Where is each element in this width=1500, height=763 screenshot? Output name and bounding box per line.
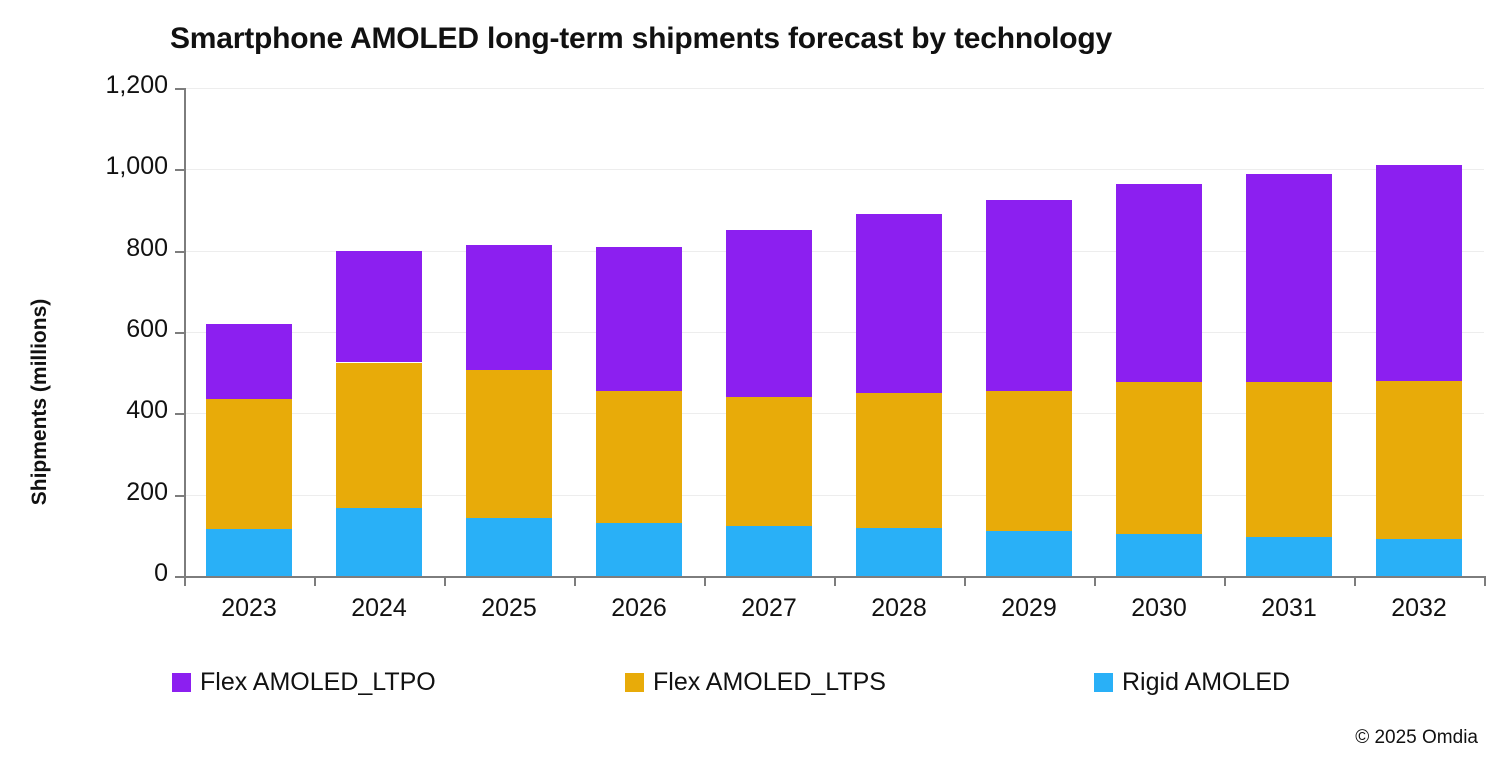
bar-segment[interactable] bbox=[726, 230, 812, 398]
bar-segment[interactable] bbox=[596, 391, 682, 523]
bar-segment[interactable] bbox=[336, 508, 422, 576]
x-axis-tick-label: 2027 bbox=[704, 594, 834, 623]
legend-label: Rigid AMOLED bbox=[1122, 668, 1290, 697]
bar-segment[interactable] bbox=[856, 528, 942, 576]
x-axis-tick-label: 2030 bbox=[1094, 594, 1224, 623]
bar-segment[interactable] bbox=[1376, 165, 1462, 381]
y-axis-tick bbox=[175, 88, 185, 90]
bar-segment[interactable] bbox=[206, 529, 292, 576]
bar-segment[interactable] bbox=[1246, 174, 1332, 382]
bar-column-2023[interactable] bbox=[206, 88, 292, 576]
y-axis-tick-label: 0 bbox=[48, 559, 168, 588]
y-axis-tick-label: 1,000 bbox=[48, 152, 168, 181]
x-axis-tick-label: 2024 bbox=[314, 594, 444, 623]
legend-swatch-icon bbox=[625, 673, 644, 692]
bar-segment[interactable] bbox=[1116, 382, 1202, 534]
x-axis-tick-label: 2028 bbox=[834, 594, 964, 623]
legend-label: Flex AMOLED_LTPS bbox=[653, 668, 886, 697]
bar-segment[interactable] bbox=[1376, 539, 1462, 576]
y-axis-tick bbox=[175, 413, 185, 415]
bar-segment[interactable] bbox=[726, 526, 812, 576]
bar-segment[interactable] bbox=[1376, 381, 1462, 539]
bar-segment[interactable] bbox=[1246, 382, 1332, 537]
bar-segment[interactable] bbox=[856, 393, 942, 528]
bar-column-2031[interactable] bbox=[1246, 88, 1332, 576]
chart-root: Smartphone AMOLED long-term shipments fo… bbox=[0, 0, 1500, 763]
bar-column-2029[interactable] bbox=[986, 88, 1072, 576]
bar-segment[interactable] bbox=[206, 399, 292, 529]
bar-segment[interactable] bbox=[986, 531, 1072, 576]
bar-column-2026[interactable] bbox=[596, 88, 682, 576]
plot-area bbox=[184, 88, 1484, 576]
bar-segment[interactable] bbox=[1116, 534, 1202, 576]
bar-segment[interactable] bbox=[596, 523, 682, 576]
bar-segment[interactable] bbox=[986, 391, 1072, 532]
x-axis-tick-label: 2031 bbox=[1224, 594, 1354, 623]
chart-title: Smartphone AMOLED long-term shipments fo… bbox=[170, 22, 1112, 56]
copyright-notice: © 2025 Omdia bbox=[1355, 727, 1478, 749]
x-axis-tick bbox=[834, 576, 836, 586]
y-axis-tick-label: 400 bbox=[48, 396, 168, 425]
y-axis-tick-label: 800 bbox=[48, 234, 168, 263]
legend-swatch-icon bbox=[1094, 673, 1113, 692]
x-axis-tick bbox=[1354, 576, 1356, 586]
legend-item[interactable]: Rigid AMOLED bbox=[1094, 668, 1290, 697]
x-axis-tick bbox=[1094, 576, 1096, 586]
y-axis-tick-label: 600 bbox=[48, 315, 168, 344]
bar-segment[interactable] bbox=[466, 518, 552, 576]
x-axis-tick-label: 2029 bbox=[964, 594, 1094, 623]
x-axis-tick bbox=[444, 576, 446, 586]
bar-column-2025[interactable] bbox=[466, 88, 552, 576]
bar-column-2032[interactable] bbox=[1376, 88, 1462, 576]
x-axis-tick-label: 2032 bbox=[1354, 594, 1484, 623]
x-axis-tick bbox=[964, 576, 966, 586]
bar-segment[interactable] bbox=[206, 324, 292, 399]
bar-column-2024[interactable] bbox=[336, 88, 422, 576]
x-axis-tick bbox=[314, 576, 316, 586]
y-axis-tick bbox=[175, 332, 185, 334]
x-axis-tick-label: 2023 bbox=[184, 594, 314, 623]
legend-item[interactable]: Flex AMOLED_LTPS bbox=[625, 668, 886, 697]
legend-label: Flex AMOLED_LTPO bbox=[200, 668, 436, 697]
bar-column-2030[interactable] bbox=[1116, 88, 1202, 576]
bar-segment[interactable] bbox=[726, 397, 812, 525]
chart-legend: Flex AMOLED_LTPOFlex AMOLED_LTPSRigid AM… bbox=[0, 668, 1500, 708]
bar-segment[interactable] bbox=[596, 247, 682, 392]
bar-column-2027[interactable] bbox=[726, 88, 812, 576]
x-axis-tick bbox=[1224, 576, 1226, 586]
x-axis-tick bbox=[184, 576, 186, 586]
bar-segment[interactable] bbox=[336, 251, 422, 363]
x-axis-tick-label: 2026 bbox=[574, 594, 704, 623]
bar-segment[interactable] bbox=[466, 370, 552, 518]
x-axis-tick bbox=[704, 576, 706, 586]
bar-segment[interactable] bbox=[986, 200, 1072, 391]
x-axis-tick-label: 2025 bbox=[444, 594, 574, 623]
bar-segment[interactable] bbox=[856, 214, 942, 393]
bar-segment[interactable] bbox=[466, 245, 552, 370]
legend-item[interactable]: Flex AMOLED_LTPO bbox=[172, 668, 436, 697]
y-axis-tick bbox=[175, 495, 185, 497]
y-axis-tick bbox=[175, 169, 185, 171]
y-axis-tick-label: 200 bbox=[48, 478, 168, 507]
bar-column-2028[interactable] bbox=[856, 88, 942, 576]
bar-segment[interactable] bbox=[1246, 537, 1332, 576]
bar-segment[interactable] bbox=[336, 363, 422, 509]
x-axis-tick bbox=[1484, 576, 1486, 586]
x-axis-tick bbox=[574, 576, 576, 586]
bar-segment[interactable] bbox=[1116, 184, 1202, 382]
legend-swatch-icon bbox=[172, 673, 191, 692]
y-axis-tick-label: 1,200 bbox=[48, 71, 168, 100]
y-axis-tick bbox=[175, 251, 185, 253]
